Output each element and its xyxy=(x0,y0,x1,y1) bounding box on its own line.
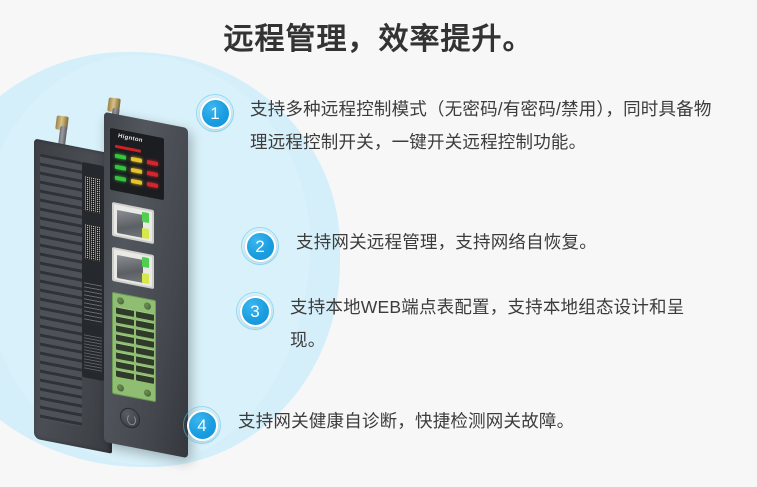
feature-item-2: 2 支持网关远程管理，支持网络自恢复。 xyxy=(241,226,711,265)
feature-text-1: 支持多种远程控制模式（无密码/有密码/禁用），同时具备物理远程控制开关，一键开关… xyxy=(247,93,716,159)
feature-item-4: 4 支持网关健康自诊断，快捷检测网关故障。 xyxy=(183,405,683,444)
page-title: 远程管理，效率提升。 xyxy=(0,14,757,58)
feature-text-3: 支持本地WEB端点表配置，支持本地组态设计和呈现。 xyxy=(287,291,706,357)
feature-item-3: 3 支持本地WEB端点表配置，支持本地组态设计和呈现。 xyxy=(236,291,706,357)
feature-item-1: 1 支持多种远程控制模式（无密码/有密码/禁用），同时具备物理远程控制开关，一键… xyxy=(196,93,716,159)
feature-text-2: 支持网关远程管理，支持网络自恢复。 xyxy=(296,226,597,259)
feature-badge-4: 4 xyxy=(183,406,221,444)
badge-core: 2 xyxy=(245,231,276,262)
badge-core: 4 xyxy=(187,410,218,441)
feature-badge-2: 2 xyxy=(241,227,279,265)
feature-number: 2 xyxy=(255,238,264,255)
badge-core: 3 xyxy=(240,296,271,327)
feature-number: 1 xyxy=(210,105,219,122)
feature-number: 3 xyxy=(250,303,259,320)
feature-text-4: 支持网关健康自诊断，快捷检测网关故障。 xyxy=(238,405,574,438)
feature-badge-3: 3 xyxy=(236,292,274,330)
feature-list: 1 支持多种远程控制模式（无密码/有密码/禁用），同时具备物理远程控制开关，一键… xyxy=(0,85,757,485)
badge-core: 1 xyxy=(200,98,231,129)
feature-number: 4 xyxy=(197,417,206,434)
feature-badge-1: 1 xyxy=(196,94,234,132)
